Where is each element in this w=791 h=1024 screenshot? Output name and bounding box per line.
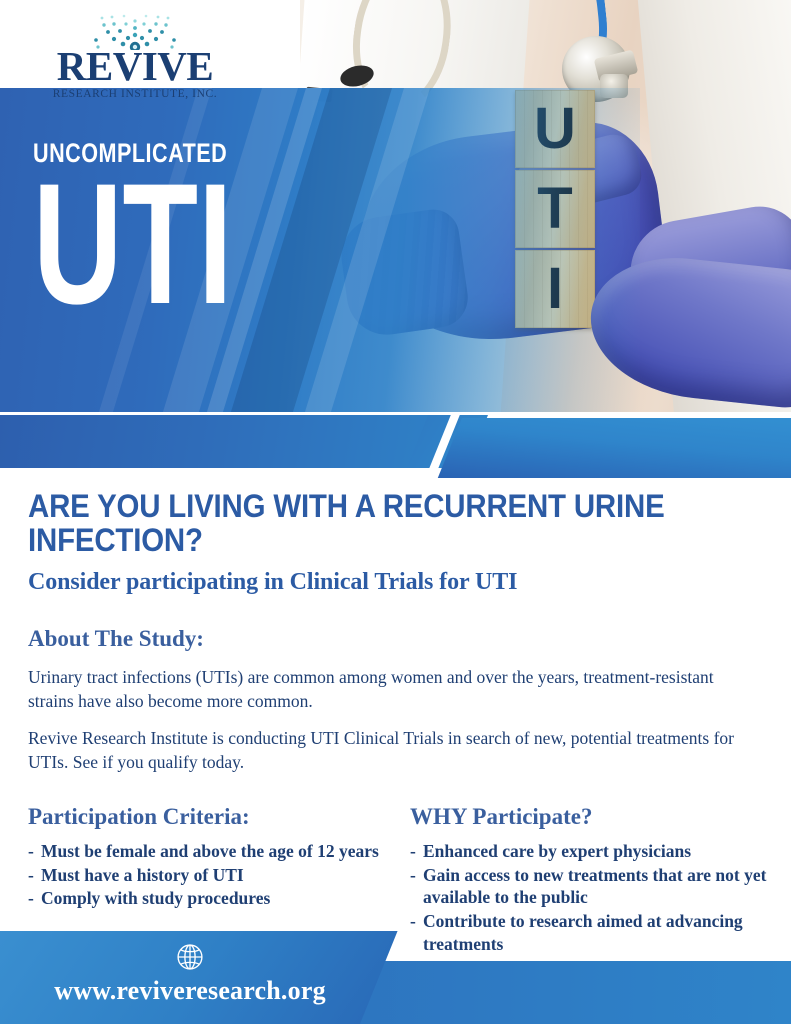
- list-item-label: Contribute to research aimed at advancin…: [423, 910, 791, 956]
- flyer-page: U T I UNCOMPLICATED UTI: [0, 0, 791, 1024]
- list-item: - Must be female and above the age of 12…: [28, 840, 392, 863]
- list-item: - Comply with study procedures: [28, 887, 392, 910]
- bullet-marker: -: [410, 840, 423, 863]
- why-participate-list: - Enhanced care by expert physicians - G…: [410, 840, 791, 980]
- participation-criteria-heading: Participation Criteria:: [28, 804, 392, 830]
- globe-icon: [173, 940, 207, 974]
- bullet-marker: -: [410, 864, 423, 910]
- list-item-label: Enhanced care by expert physicians: [423, 840, 791, 863]
- list-item: - Contribute to research aimed at advanc…: [410, 910, 791, 956]
- bullet-marker: -: [28, 864, 41, 887]
- hero-title: UTI: [33, 171, 232, 319]
- participation-criteria-list: - Must be female and above the age of 12…: [28, 840, 392, 910]
- why-participate-heading: WHY Participate?: [410, 804, 791, 830]
- why-participate-column: WHY Participate? - Enhanced care by expe…: [392, 804, 791, 981]
- list-item-label: Must have a history of UTI: [41, 864, 392, 887]
- page-subheadline: Consider participating in Clinical Trial…: [28, 569, 791, 596]
- footer-website-url[interactable]: www.reviveresearch.org: [0, 976, 380, 1006]
- logo-tagline: RESEARCH INSTITUTE, INC.: [40, 88, 230, 100]
- bullet-marker: -: [28, 840, 41, 863]
- divider-bar-left: [0, 415, 470, 468]
- list-item-label: Must be female and above the age of 12 y…: [41, 840, 392, 863]
- footer-content: www.reviveresearch.org: [0, 931, 380, 1024]
- logo-wordmark: REVIVE: [40, 46, 230, 87]
- page-headline: ARE YOU LIVING WITH A RECURRENT URINE IN…: [28, 490, 730, 557]
- about-study-paragraph-2: Revive Research Institute is conducting …: [28, 727, 763, 774]
- main-content: ARE YOU LIVING WITH A RECURRENT URINE IN…: [0, 490, 791, 980]
- list-item-label: Comply with study procedures: [41, 887, 392, 910]
- list-item: - Enhanced care by expert physicians: [410, 840, 791, 863]
- divider-bar-right: [438, 418, 791, 478]
- radiating-dots-burst-icon: [40, 14, 230, 50]
- bullet-marker: -: [28, 887, 41, 910]
- about-study-heading: About The Study:: [28, 626, 791, 652]
- bullet-marker: -: [410, 910, 423, 956]
- hero-text-block: UNCOMPLICATED UTI: [33, 140, 310, 319]
- list-item: - Gain access to new treatments that are…: [410, 864, 791, 910]
- brand-logo[interactable]: REVIVE RESEARCH INSTITUTE, INC.: [40, 14, 230, 100]
- about-study-paragraph-1: Urinary tract infections (UTIs) are comm…: [28, 666, 763, 713]
- list-item: - Must have a history of UTI: [28, 864, 392, 887]
- list-item-label: Gain access to new treatments that are n…: [423, 864, 791, 910]
